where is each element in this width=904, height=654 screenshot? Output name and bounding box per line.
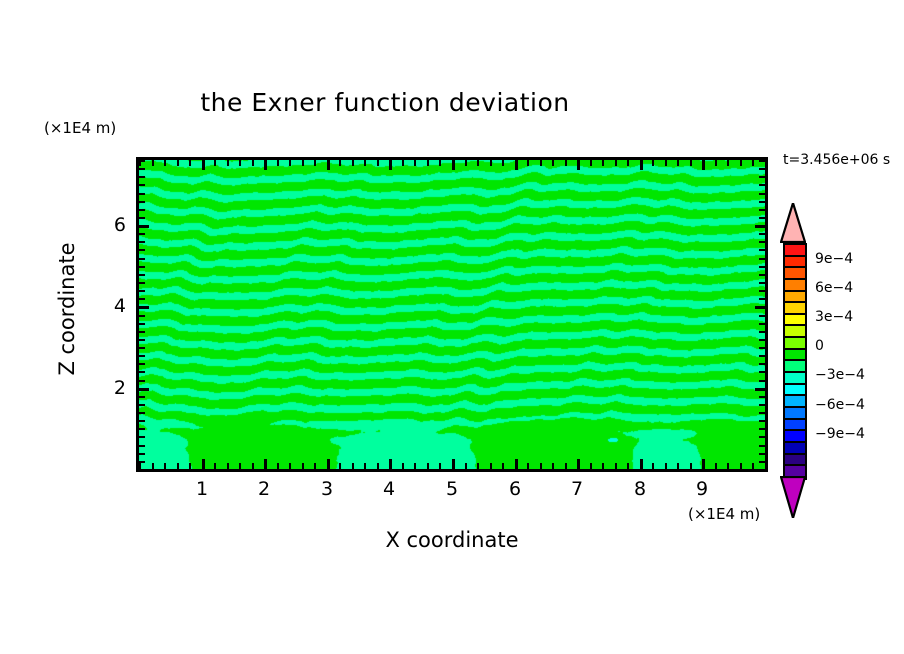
y-minor-tick-right: [759, 249, 765, 251]
y-major-tick: [139, 306, 149, 309]
colorbar-tick-label: −9e−4: [815, 426, 865, 442]
y-minor-tick: [139, 249, 145, 251]
x-minor-tick: [690, 463, 692, 469]
y-minor-tick-right: [759, 469, 765, 471]
x-minor-tick: [740, 463, 742, 469]
colorbar-band: [785, 315, 805, 327]
x-minor-tick-top: [302, 160, 304, 166]
y-minor-tick: [139, 453, 145, 455]
y-minor-tick-right: [759, 371, 765, 373]
x-tick-label: 9: [696, 478, 708, 500]
y-major-tick: [139, 225, 149, 228]
x-minor-tick-top: [552, 160, 554, 166]
y-minor-tick: [139, 331, 145, 333]
y-minor-tick-right: [759, 436, 765, 438]
x-minor-tick-top: [252, 160, 254, 166]
x-minor-tick: [652, 463, 654, 469]
y-minor-tick: [139, 290, 145, 292]
x-minor-tick: [277, 463, 279, 469]
y-axis-title: Z coordinate: [55, 219, 79, 399]
y-minor-tick: [139, 266, 145, 268]
x-major-tick-top: [577, 160, 580, 170]
x-minor-tick-top: [402, 160, 404, 166]
x-minor-tick-top: [490, 160, 492, 166]
y-minor-tick: [139, 233, 145, 235]
x-minor-tick-top: [602, 160, 604, 166]
y-minor-tick-right: [759, 323, 765, 325]
x-minor-tick: [339, 463, 341, 469]
colorbar: [778, 203, 812, 518]
x-major-tick-top: [515, 160, 518, 170]
y-minor-tick-right: [759, 274, 765, 276]
x-minor-tick: [565, 463, 567, 469]
x-major-tick: [640, 459, 643, 469]
colorbar-band: [785, 431, 805, 443]
y-minor-tick-right: [759, 380, 765, 382]
y-minor-tick: [139, 160, 145, 162]
colorbar-band: [785, 326, 805, 338]
x-tick-label: 4: [383, 478, 395, 500]
y-minor-tick: [139, 315, 145, 317]
x-tick-label: 5: [446, 478, 458, 500]
x-minor-tick-top: [164, 160, 166, 166]
y-major-tick: [139, 388, 149, 391]
x-minor-tick: [602, 463, 604, 469]
x-minor-tick: [189, 463, 191, 469]
y-minor-tick: [139, 380, 145, 382]
colorbar-band: [785, 257, 805, 269]
x-minor-tick: [527, 463, 529, 469]
x-minor-tick-top: [615, 160, 617, 166]
x-major-tick-top: [389, 160, 392, 170]
colorbar-band-stack: [783, 243, 807, 480]
x-major-tick-top: [640, 160, 643, 170]
contour-field-canvas: [139, 160, 765, 469]
y-axis-unit-label: (×1E4 m): [44, 119, 116, 137]
x-minor-tick: [439, 463, 441, 469]
x-minor-tick: [377, 463, 379, 469]
y-minor-tick-right: [759, 445, 765, 447]
x-minor-tick: [427, 463, 429, 469]
y-minor-tick: [139, 445, 145, 447]
x-minor-tick-top: [289, 160, 291, 166]
x-minor-tick-top: [690, 160, 692, 166]
y-minor-tick-right: [759, 331, 765, 333]
colorbar-band: [785, 280, 805, 292]
y-tick-label: 2: [96, 377, 126, 399]
y-minor-tick: [139, 428, 145, 430]
y-minor-tick: [139, 241, 145, 243]
y-minor-tick: [139, 469, 145, 471]
x-minor-tick-top: [627, 160, 629, 166]
x-minor-tick-top: [339, 160, 341, 166]
y-minor-tick: [139, 323, 145, 325]
x-major-tick-top: [702, 160, 705, 170]
y-minor-tick: [139, 217, 145, 219]
colorbar-band: [785, 245, 805, 257]
y-minor-tick: [139, 461, 145, 463]
x-minor-tick: [252, 463, 254, 469]
x-minor-tick: [615, 463, 617, 469]
x-major-tick: [389, 459, 392, 469]
x-minor-tick-top: [439, 160, 441, 166]
y-minor-tick: [139, 201, 145, 203]
x-minor-tick-top: [665, 160, 667, 166]
y-minor-tick-right: [759, 233, 765, 235]
y-minor-tick-right: [759, 290, 765, 292]
colorbar-tick-label: 6e−4: [815, 280, 853, 296]
x-minor-tick-top: [590, 160, 592, 166]
x-minor-tick-top: [414, 160, 416, 166]
y-minor-tick: [139, 176, 145, 178]
y-minor-tick-right: [759, 217, 765, 219]
x-minor-tick-top: [189, 160, 191, 166]
x-minor-tick-top: [377, 160, 379, 166]
x-minor-tick-top: [427, 160, 429, 166]
colorbar-under-arrow-icon: [780, 476, 806, 518]
y-minor-tick-right: [759, 420, 765, 422]
x-tick-label: 6: [509, 478, 521, 500]
y-minor-tick-right: [759, 160, 765, 162]
colorbar-band: [785, 408, 805, 420]
x-minor-tick: [752, 463, 754, 469]
y-minor-tick-right: [759, 339, 765, 341]
page-title: the Exner function deviation: [0, 88, 770, 117]
x-minor-tick: [552, 463, 554, 469]
x-tick-label: 7: [571, 478, 583, 500]
x-minor-tick: [727, 463, 729, 469]
x-minor-tick-top: [715, 160, 717, 166]
colorbar-tick-label: 3e−4: [815, 309, 853, 325]
y-minor-tick-right: [759, 404, 765, 406]
y-minor-tick-right: [759, 396, 765, 398]
y-minor-tick-right: [759, 176, 765, 178]
x-minor-tick: [665, 463, 667, 469]
y-minor-tick-right: [759, 412, 765, 414]
x-minor-tick: [314, 463, 316, 469]
colorbar-band: [785, 338, 805, 350]
y-minor-tick: [139, 347, 145, 349]
y-major-tick-right: [755, 388, 765, 391]
x-axis-unit-label: (×1E4 m): [688, 505, 760, 523]
x-minor-tick-top: [214, 160, 216, 166]
y-minor-tick-right: [759, 201, 765, 203]
y-major-tick-right: [755, 306, 765, 309]
y-minor-tick: [139, 396, 145, 398]
x-minor-tick-top: [740, 160, 742, 166]
x-minor-tick: [227, 463, 229, 469]
x-minor-tick: [152, 463, 154, 469]
y-minor-tick-right: [759, 355, 765, 357]
x-major-tick: [202, 459, 205, 469]
x-tick-label: 8: [634, 478, 646, 500]
x-minor-tick: [302, 463, 304, 469]
colorbar-band: [785, 350, 805, 362]
colorbar-band: [785, 292, 805, 304]
x-minor-tick: [465, 463, 467, 469]
x-minor-tick-top: [227, 160, 229, 166]
timestamp-annotation: t=3.456e+06 s: [783, 152, 890, 168]
x-minor-tick: [477, 463, 479, 469]
y-minor-tick-right: [759, 461, 765, 463]
x-major-tick: [577, 459, 580, 469]
y-minor-tick: [139, 258, 145, 260]
x-major-tick-top: [202, 160, 205, 170]
colorbar-band: [785, 443, 805, 455]
colorbar-band: [785, 373, 805, 385]
y-minor-tick: [139, 184, 145, 186]
x-minor-tick-top: [677, 160, 679, 166]
colorbar-band: [785, 268, 805, 280]
contour-plot-area: [136, 157, 768, 472]
x-minor-tick: [540, 463, 542, 469]
x-minor-tick-top: [652, 160, 654, 166]
y-minor-tick: [139, 209, 145, 211]
y-minor-tick-right: [759, 298, 765, 300]
colorbar-tick-label: −6e−4: [815, 397, 865, 413]
x-minor-tick: [352, 463, 354, 469]
x-minor-tick: [590, 463, 592, 469]
y-minor-tick-right: [759, 258, 765, 260]
x-major-tick-top: [452, 160, 455, 170]
y-minor-tick: [139, 339, 145, 341]
x-minor-tick-top: [752, 160, 754, 166]
colorbar-band: [785, 455, 805, 467]
y-minor-tick: [139, 282, 145, 284]
y-minor-tick: [139, 371, 145, 373]
x-major-tick: [452, 459, 455, 469]
x-axis-title: X coordinate: [136, 528, 768, 552]
x-tick-label: 2: [258, 478, 270, 500]
x-minor-tick-top: [565, 160, 567, 166]
x-minor-tick: [490, 463, 492, 469]
x-minor-tick-top: [152, 160, 154, 166]
x-minor-tick: [214, 463, 216, 469]
x-minor-tick: [677, 463, 679, 469]
y-minor-tick-right: [759, 241, 765, 243]
y-minor-tick: [139, 436, 145, 438]
x-minor-tick-top: [239, 160, 241, 166]
x-minor-tick-top: [765, 160, 767, 166]
x-minor-tick-top: [352, 160, 354, 166]
x-minor-tick-top: [277, 160, 279, 166]
x-major-tick-top: [327, 160, 330, 170]
colorbar-band: [785, 385, 805, 397]
x-minor-tick: [765, 463, 767, 469]
x-major-tick-top: [264, 160, 267, 170]
y-minor-tick: [139, 363, 145, 365]
colorbar-over-arrow-icon: [780, 203, 806, 243]
y-minor-tick-right: [759, 184, 765, 186]
colorbar-tick-label: 9e−4: [815, 251, 853, 267]
colorbar-tick-label: 0: [815, 338, 824, 354]
colorbar-band: [785, 361, 805, 373]
x-minor-tick-top: [727, 160, 729, 166]
x-major-tick: [264, 459, 267, 469]
x-minor-tick: [402, 463, 404, 469]
x-minor-tick: [364, 463, 366, 469]
x-minor-tick: [715, 463, 717, 469]
y-minor-tick: [139, 420, 145, 422]
x-tick-label: 3: [321, 478, 333, 500]
y-minor-tick: [139, 404, 145, 406]
y-minor-tick-right: [759, 347, 765, 349]
y-minor-tick: [139, 298, 145, 300]
x-minor-tick: [239, 463, 241, 469]
x-minor-tick: [414, 463, 416, 469]
y-minor-tick-right: [759, 209, 765, 211]
y-minor-tick-right: [759, 315, 765, 317]
colorbar-tick-label: −3e−4: [815, 367, 865, 383]
y-minor-tick-right: [759, 193, 765, 195]
x-tick-label: 1: [196, 478, 208, 500]
x-minor-tick: [164, 463, 166, 469]
x-minor-tick-top: [465, 160, 467, 166]
y-minor-tick-right: [759, 453, 765, 455]
y-minor-tick-right: [759, 266, 765, 268]
x-minor-tick-top: [502, 160, 504, 166]
x-minor-tick: [627, 463, 629, 469]
y-minor-tick: [139, 355, 145, 357]
x-major-tick: [515, 459, 518, 469]
y-minor-tick-right: [759, 428, 765, 430]
y-major-tick-right: [755, 225, 765, 228]
y-minor-tick-right: [759, 168, 765, 170]
y-minor-tick-right: [759, 282, 765, 284]
y-tick-label: 6: [96, 214, 126, 236]
x-minor-tick: [502, 463, 504, 469]
x-minor-tick-top: [314, 160, 316, 166]
y-minor-tick-right: [759, 363, 765, 365]
y-minor-tick: [139, 412, 145, 414]
y-minor-tick: [139, 168, 145, 170]
x-minor-tick: [177, 463, 179, 469]
x-major-tick: [702, 459, 705, 469]
x-minor-tick: [289, 463, 291, 469]
x-major-tick: [327, 459, 330, 469]
x-minor-tick-top: [364, 160, 366, 166]
x-minor-tick-top: [177, 160, 179, 166]
x-minor-tick-top: [477, 160, 479, 166]
colorbar-band: [785, 396, 805, 408]
y-tick-label: 4: [96, 295, 126, 317]
y-minor-tick: [139, 193, 145, 195]
colorbar-band: [785, 420, 805, 432]
x-minor-tick-top: [527, 160, 529, 166]
colorbar-band: [785, 303, 805, 315]
x-minor-tick-top: [540, 160, 542, 166]
y-minor-tick: [139, 274, 145, 276]
